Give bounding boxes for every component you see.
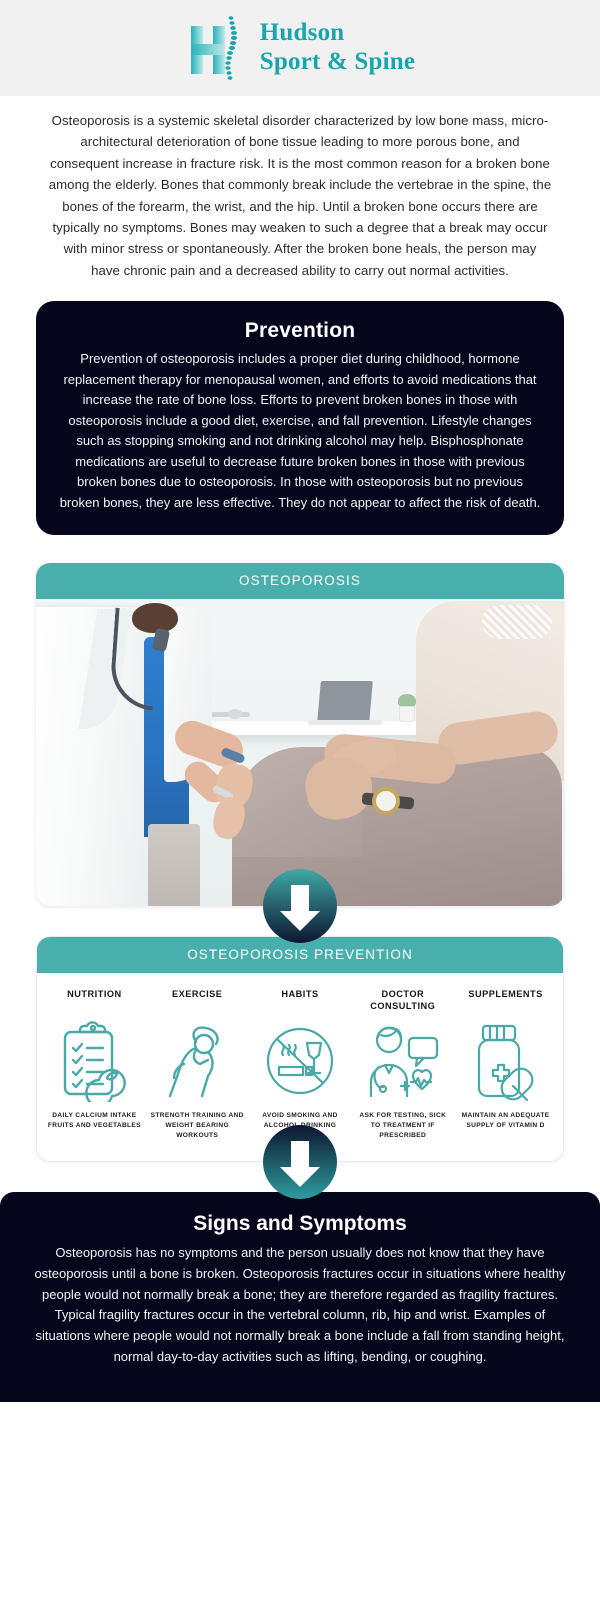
brand-logo[interactable]: Hudson Sport & Spine	[185, 12, 415, 84]
prevention-card-title: Prevention	[56, 319, 544, 343]
brand-name-line1: Hudson	[260, 19, 415, 48]
pill-bottle-capsules-icon	[457, 1015, 554, 1107]
prevention-title-doctor: DOCTOR CONSULTING	[354, 989, 451, 1015]
prevention-column-exercise[interactable]: EXERCISE STRENGTH TRAINING AND WEIGHT BE…	[146, 989, 249, 1141]
prevention-caption-exercise: STRENGTH TRAINING AND WEIGHT BEARING WOR…	[149, 1111, 246, 1141]
osteoporosis-photo-panel: OSTEOPOROSIS	[36, 563, 564, 906]
checklist-apple-icon	[46, 1015, 143, 1107]
prevention-card: Prevention Prevention of osteoporosis in…	[36, 301, 564, 535]
prevention-caption-nutrition: DAILY CALCIUM INTAKE FRUITS AND VEGETABL…	[46, 1111, 143, 1131]
signs-symptoms-card: Signs and Symptoms Osteoporosis has no s…	[0, 1192, 600, 1402]
prevention-title-supplements: SUPPLEMENTS	[457, 989, 554, 1015]
brand-name-line2: Sport & Spine	[260, 48, 415, 77]
prevention-column-habits[interactable]: HABITS AVOID SMOKING AND ALCOHOL DRINKIN…	[249, 989, 352, 1141]
intro-paragraph: Osteoporosis is a systemic skeletal diso…	[0, 96, 600, 287]
osteoporosis-panel-label: OSTEOPOROSIS	[36, 563, 564, 599]
arrow-down-icon	[263, 869, 337, 943]
signs-symptoms-body: Osteoporosis has no symptoms and the per…	[26, 1243, 574, 1368]
prevention-column-nutrition[interactable]: NUTRITION DAILY CALCIUM INTAKE FRUITS AN…	[43, 989, 146, 1141]
prevention-title-exercise: EXERCISE	[149, 989, 246, 1015]
arrow-down-icon	[263, 1125, 337, 1199]
signs-symptoms-title: Signs and Symptoms	[26, 1212, 574, 1236]
doctor-patient-photo	[36, 599, 564, 906]
prevention-title-habits: HABITS	[252, 989, 349, 1015]
prevention-card-body: Prevention of osteoporosis includes a pr…	[56, 349, 544, 513]
h-spine-logo-icon	[185, 12, 251, 84]
prevention-caption-supplements: MAINTAIN AN ADEQUATE SUPPLY OF VITAMIN D	[457, 1111, 554, 1131]
scroll-arrow-bottom	[263, 1125, 337, 1199]
prevention-column-doctor[interactable]: DOCTOR CONSULTING ASK FOR TEST	[351, 989, 454, 1141]
prevention-title-nutrition: NUTRITION	[46, 989, 143, 1015]
brand-name: Hudson Sport & Spine	[260, 19, 415, 77]
prevention-caption-doctor: ASK FOR TESTING, SICK TO TREATMENT IF PR…	[354, 1111, 451, 1141]
doctor-speech-heart-icon	[354, 1015, 451, 1107]
scroll-arrow-top	[263, 869, 337, 943]
page-header: Hudson Sport & Spine	[0, 0, 600, 96]
no-smoking-no-alcohol-icon	[252, 1015, 349, 1107]
prevention-column-supplements[interactable]: SUPPLEMENTS MAINTAIN AN ADEQUATE SUPPLY …	[454, 989, 557, 1141]
stretching-person-icon	[149, 1015, 246, 1107]
